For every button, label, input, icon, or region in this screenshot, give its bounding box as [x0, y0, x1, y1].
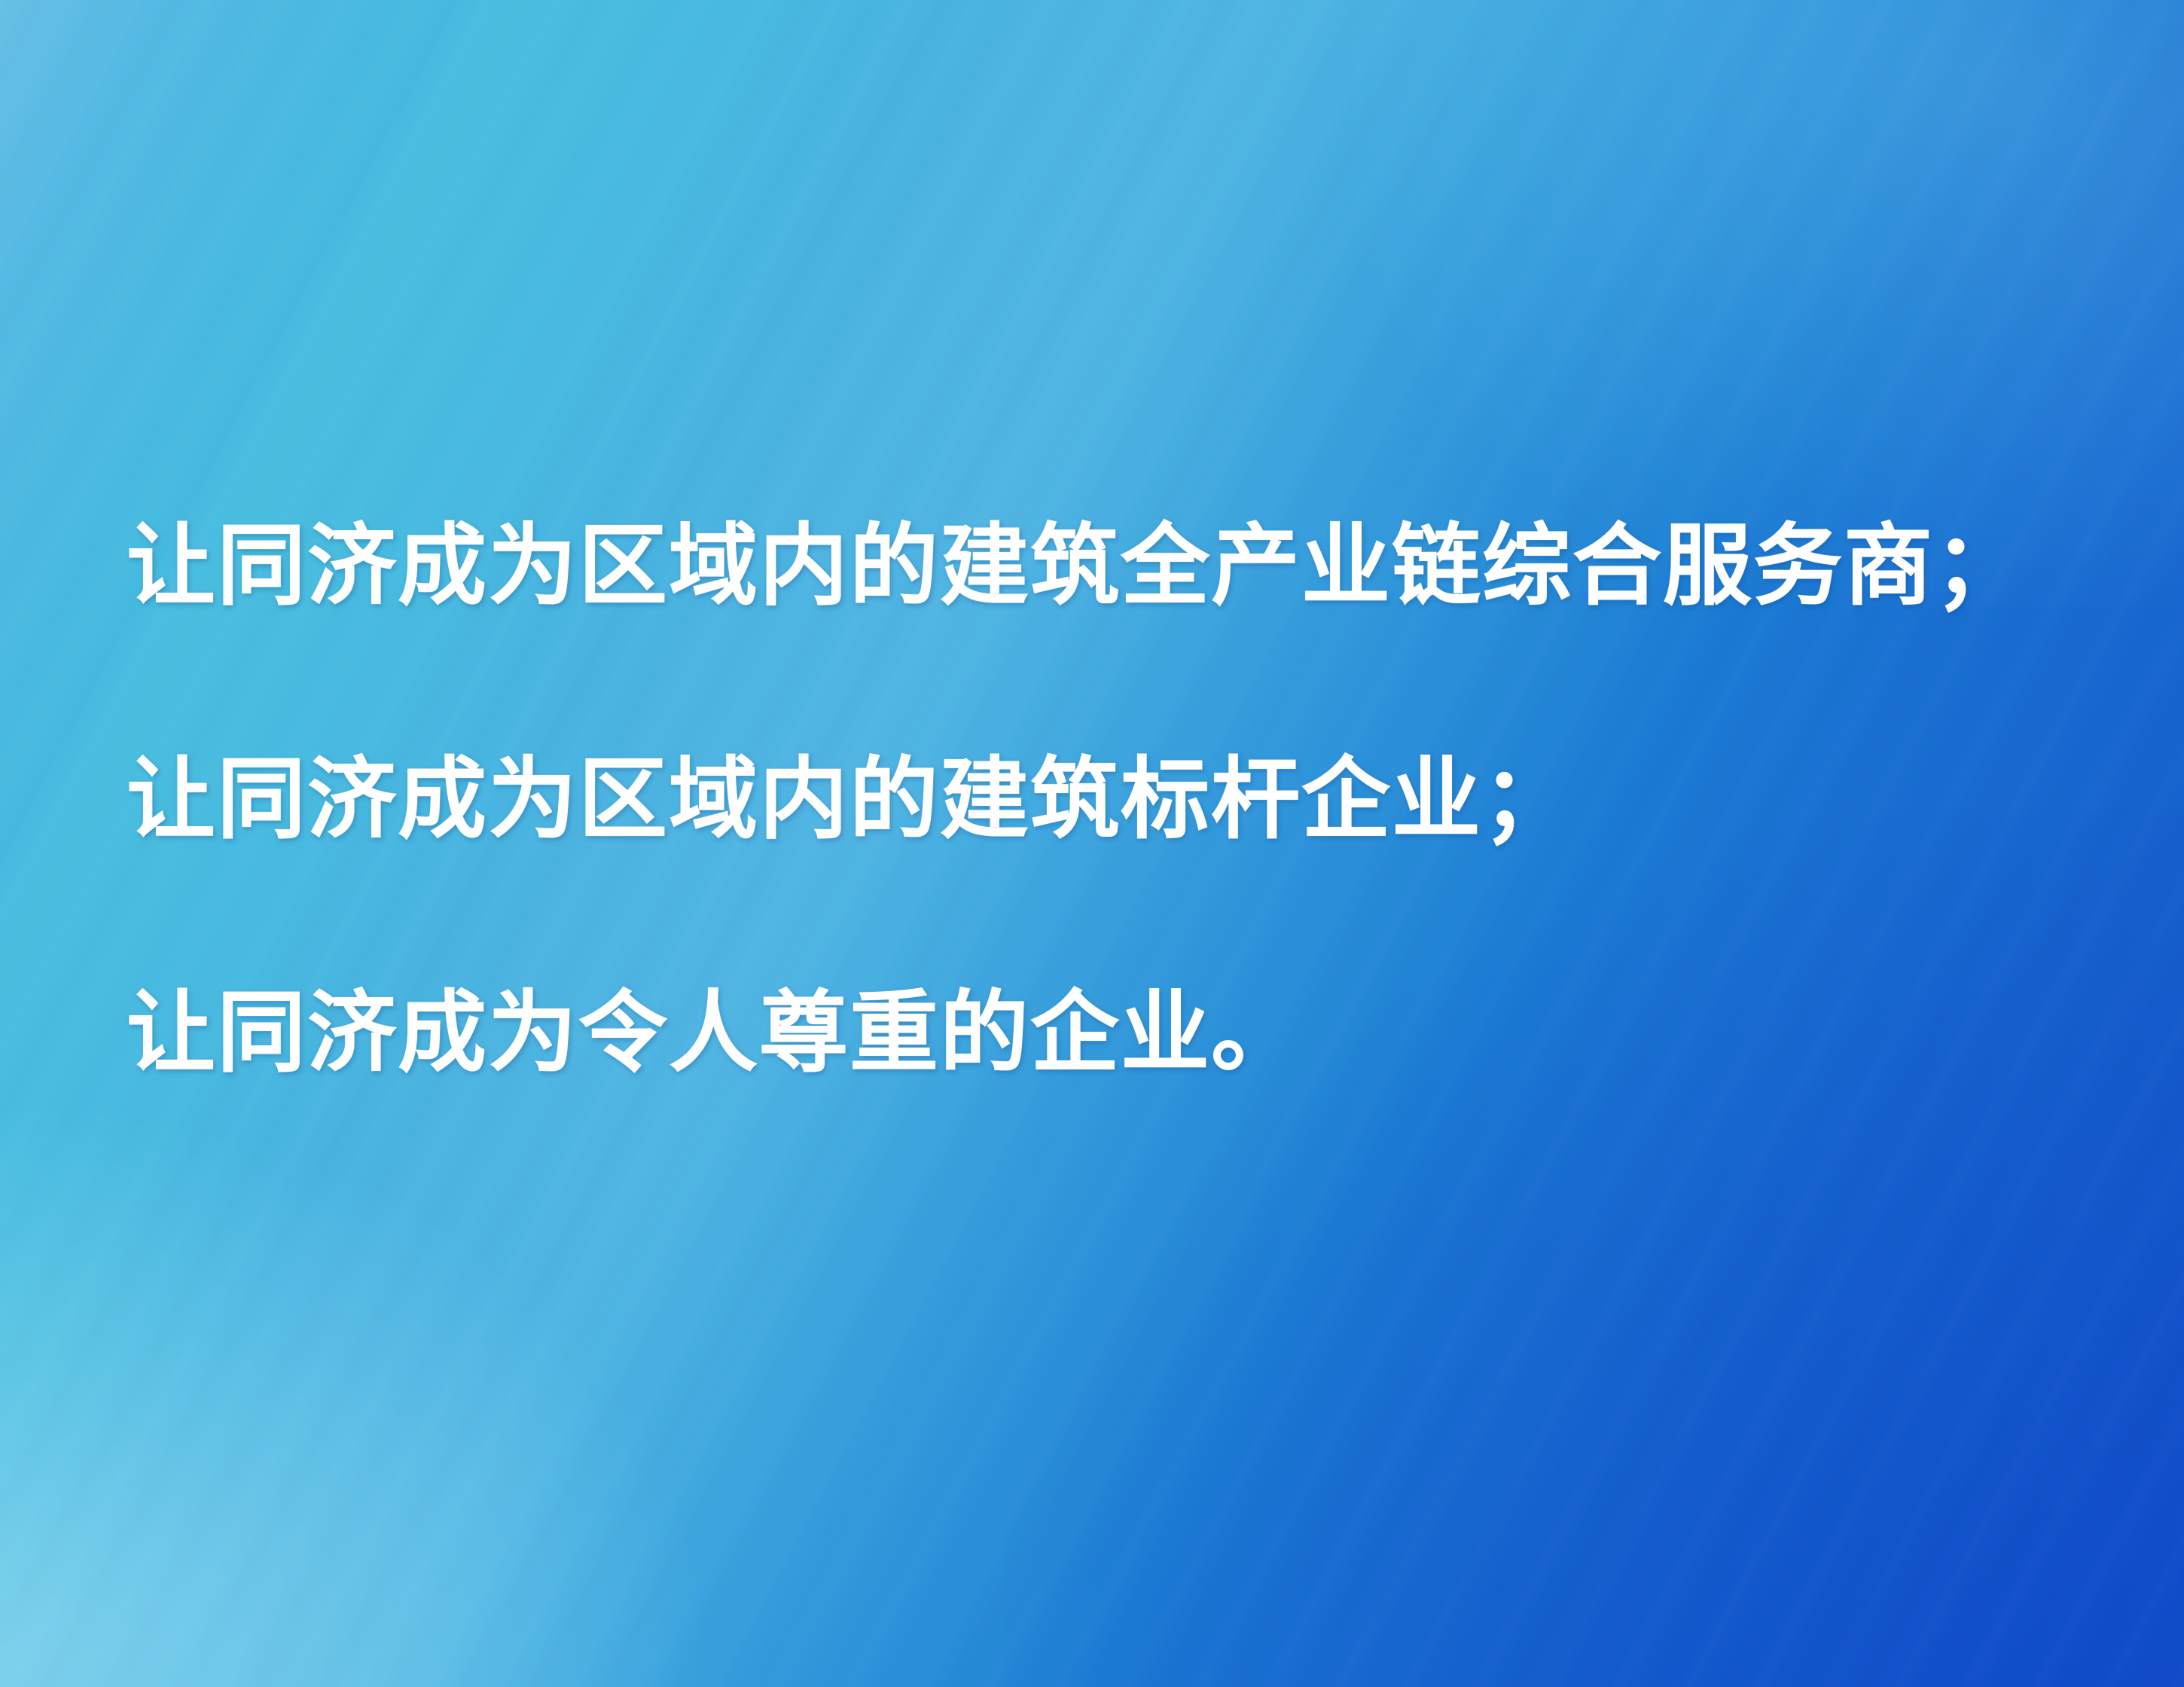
vision-text-block: 让同济成为区域内的建筑全产业链综合服务商； 让同济成为区域内的建筑标杆企业； 让… — [127, 449, 2085, 1149]
vision-line-3: 让同济成为令人尊重的企业。 — [127, 916, 2085, 1149]
vision-line-2: 让同济成为区域内的建筑标杆企业； — [127, 682, 2085, 916]
vision-line-1: 让同济成为区域内的建筑全产业链综合服务商； — [127, 449, 2085, 682]
vision-slide: 让同济成为区域内的建筑全产业链综合服务商； 让同济成为区域内的建筑标杆企业； 让… — [0, 0, 2184, 1687]
